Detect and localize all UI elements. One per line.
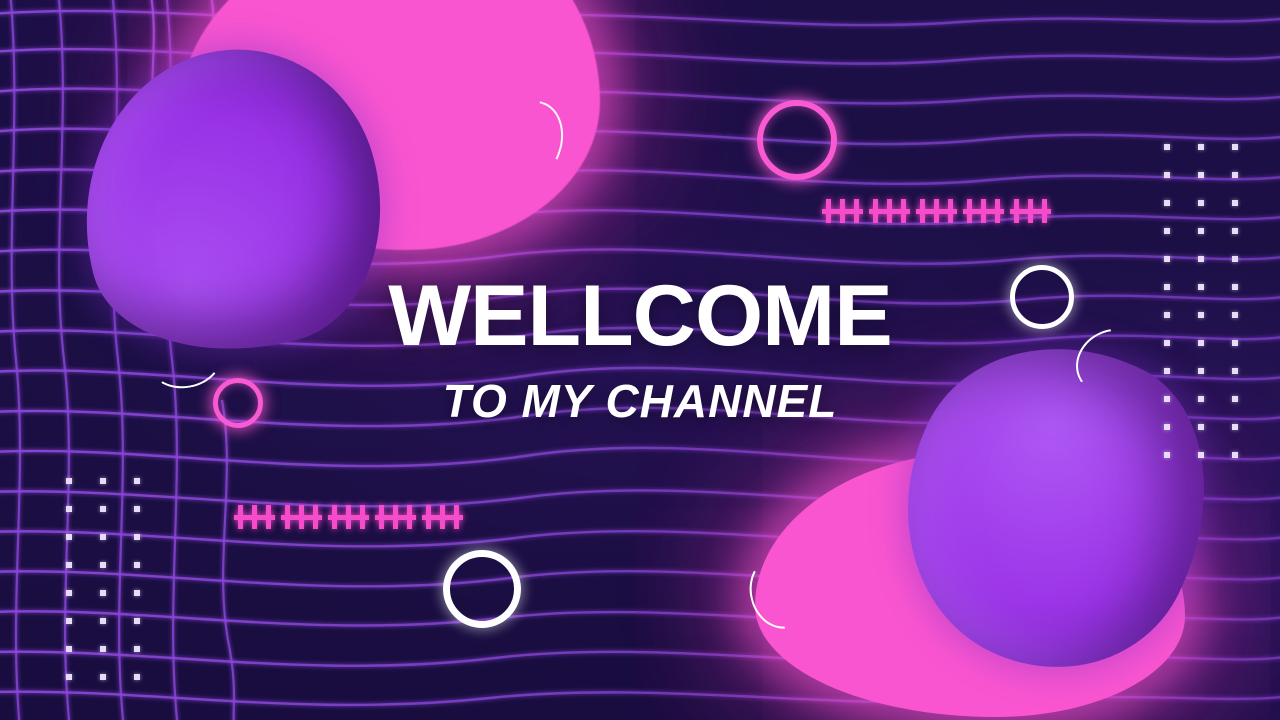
tally-group (285, 505, 319, 529)
tally-group (1014, 199, 1048, 223)
tally-group (379, 505, 413, 529)
tally-group (920, 199, 954, 223)
tally-group (426, 505, 460, 529)
tally-marks-lower-left (238, 505, 460, 529)
dot-grid-left (66, 478, 140, 680)
ring-pink-large-icon (757, 100, 837, 180)
tally-group (332, 505, 366, 529)
page-title: WELLCOME (0, 277, 1280, 356)
page-subtitle: TO MY CHANNEL (0, 378, 1280, 424)
tally-group (873, 199, 907, 223)
tally-group (238, 505, 272, 529)
tally-group (826, 199, 860, 223)
welcome-banner: WELLCOME TO MY CHANNEL (0, 0, 1280, 720)
tally-group (967, 199, 1001, 223)
ring-white-large-icon (443, 550, 521, 628)
tally-marks-upper-right (826, 199, 1048, 223)
title-block: WELLCOME TO MY CHANNEL (0, 277, 1280, 424)
